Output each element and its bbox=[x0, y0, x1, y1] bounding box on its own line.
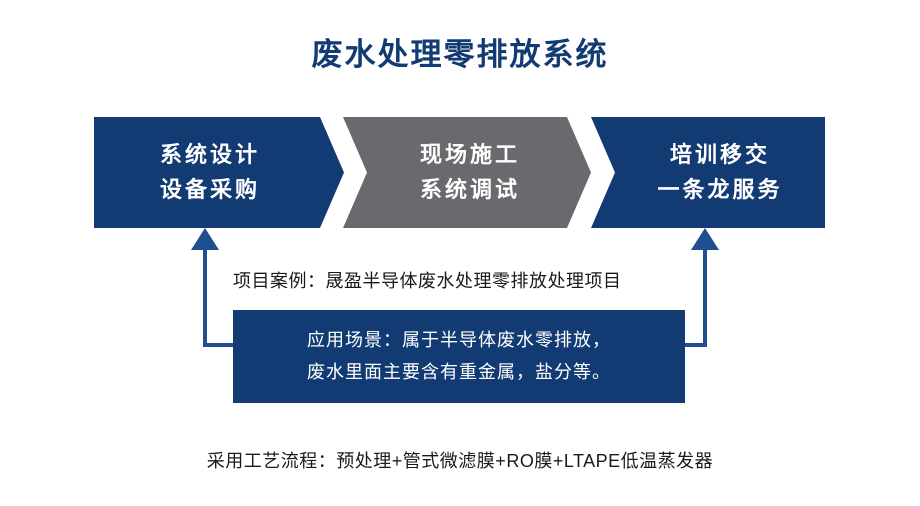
process-step-training-handover[interactable]: 培训移交 一条龙服务 bbox=[591, 117, 825, 228]
process-step-3-line2: 一条龙服务 bbox=[657, 173, 782, 207]
process-step-design-procurement[interactable]: 系统设计 设备采购 bbox=[94, 117, 344, 228]
page-title: 废水处理零排放系统 bbox=[0, 36, 920, 73]
process-step-2-line1: 现场施工 bbox=[420, 138, 520, 172]
slide-canvas: 废水处理零排放系统 系统设计 设备采购 现场施工 系统调试 培训移交 一条龙服务… bbox=[0, 0, 920, 506]
process-step-1-line2: 设备采购 bbox=[160, 173, 260, 207]
process-step-2-line2: 系统调试 bbox=[420, 173, 520, 207]
arrow-up-to-step-1 bbox=[191, 228, 233, 345]
connector-arrows bbox=[0, 0, 920, 506]
scenario-line-2: 废水里面主要含有重金属，盐分等。 bbox=[307, 357, 611, 389]
case-caption: 项目案例：晟盈半导体废水处理零排放处理项目 bbox=[233, 268, 703, 294]
scenario-line-1: 应用场景：属于半导体废水零排放， bbox=[307, 325, 611, 357]
process-flow-note: 采用工艺流程：预处理+管式微滤膜+RO膜+LTAPE低温蒸发器 bbox=[0, 447, 920, 473]
process-step-3-line1: 培训移交 bbox=[670, 138, 770, 172]
process-step-1-line1: 系统设计 bbox=[160, 138, 260, 172]
process-step-construction-commissioning[interactable]: 现场施工 系统调试 bbox=[343, 117, 591, 228]
application-scenario-box: 应用场景：属于半导体废水零排放， 废水里面主要含有重金属，盐分等。 bbox=[233, 310, 685, 403]
